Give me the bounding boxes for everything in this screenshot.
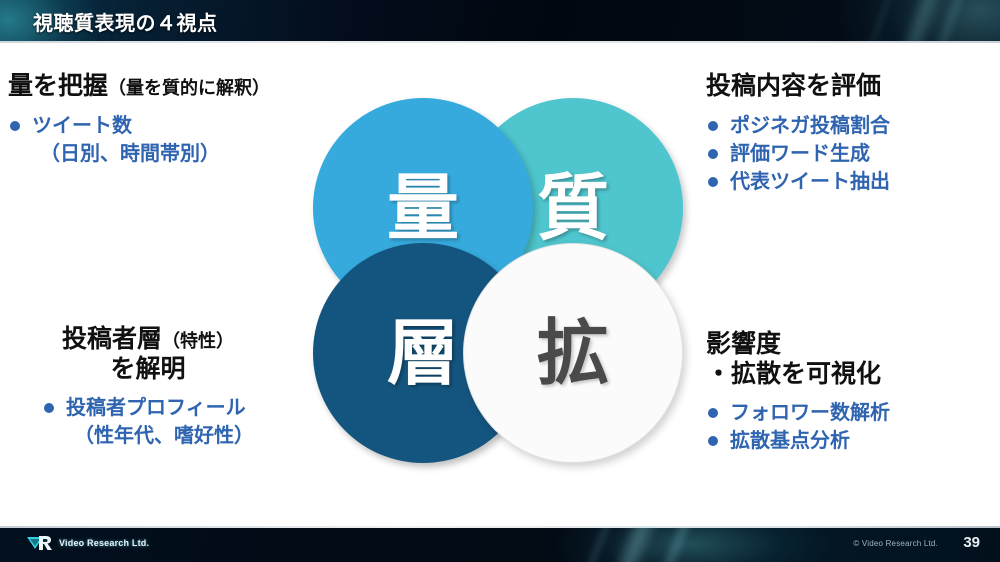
- list-item-sublabel: （性年代、嗜好性）: [66, 422, 254, 450]
- list-item-label: ポジネガ投稿割合: [730, 115, 890, 137]
- venn-diagram: 質 量 層 拡: [305, 95, 695, 465]
- bullet-dot-icon: [708, 408, 718, 418]
- bullet-dot-icon: [44, 403, 54, 413]
- quality-bullet-list: ポジネガ投稿割合 評価ワード生成 代表ツイート抽出: [706, 112, 890, 197]
- quantity-heading-main: 量を把握: [8, 72, 108, 100]
- page-title: 視聴質表現の４視点: [33, 7, 218, 36]
- header-divider: [0, 41, 1000, 43]
- quantity-circle-label: 量: [387, 172, 459, 244]
- list-item: 投稿者プロフィール （性年代、嗜好性）: [42, 394, 254, 451]
- list-item-label: フォロワー数解析: [730, 402, 890, 424]
- list-item-label: 投稿者プロフィール: [66, 397, 246, 419]
- segment-heading: 投稿者層（特性） を解明: [42, 325, 254, 384]
- slide: 視聴質表現の４視点 質 量 層 拡 量を把握（量を質的に解釈） ツイート数 （日…: [0, 0, 1000, 562]
- brand-name: Video Research Ltd.: [59, 538, 149, 548]
- footer-light-streak-icon: [579, 526, 616, 562]
- page-number: 39: [963, 534, 980, 551]
- video-research-logo-icon: [26, 534, 54, 552]
- segment-text-block: 投稿者層（特性） を解明 投稿者プロフィール （性年代、嗜好性）: [42, 325, 254, 451]
- footer-divider: [0, 526, 1000, 528]
- quantity-bullet-list: ツイート数 （日別、時間帯別）: [8, 112, 270, 169]
- bullet-dot-icon: [708, 149, 718, 159]
- footer-light-streak-icon: [655, 526, 696, 562]
- quantity-heading-sub: （量を質的に解釈）: [108, 78, 270, 98]
- segment-heading-main: 投稿者層: [62, 325, 162, 353]
- footer-light-streak-icon: [608, 526, 662, 562]
- header-light-streak-icon: [855, 0, 899, 42]
- diffusion-text-block: 影響度 ・拡散を可視化 フォロワー数解析 拡散基点分析: [706, 330, 890, 456]
- list-item-sublabel: （日別、時間帯別）: [32, 140, 270, 168]
- quality-text-block: 投稿内容を評価 ポジネガ投稿割合 評価ワード生成 代表ツイート抽出: [706, 72, 890, 197]
- bullet-dot-icon: [708, 177, 718, 187]
- quantity-heading: 量を把握（量を質的に解釈）: [8, 72, 270, 102]
- quality-heading-main: 投稿内容を評価: [706, 72, 881, 100]
- diffusion-circle-label: 拡: [537, 317, 609, 389]
- slide-footer: Video Research Ltd. © Video Research Ltd…: [0, 526, 1000, 562]
- list-item-label: ツイート数: [32, 115, 132, 137]
- segment-heading-sub: （特性）: [162, 331, 234, 351]
- segment-bullet-list: 投稿者プロフィール （性年代、嗜好性）: [42, 394, 254, 451]
- list-item: フォロワー数解析: [706, 399, 890, 427]
- quantity-text-block: 量を把握（量を質的に解釈） ツイート数 （日別、時間帯別）: [8, 72, 270, 168]
- bullet-dot-icon: [708, 121, 718, 131]
- diffusion-heading: 影響度 ・拡散を可視化: [706, 330, 890, 389]
- list-item: ツイート数 （日別、時間帯別）: [8, 112, 270, 169]
- quality-heading: 投稿内容を評価: [706, 72, 890, 102]
- segment-heading-line2: を解明: [42, 355, 254, 385]
- brand-logo: Video Research Ltd.: [26, 534, 149, 552]
- copyright-text: © Video Research Ltd.: [853, 539, 938, 548]
- list-item-label: 拡散基点分析: [730, 430, 850, 452]
- segment-circle-label: 層: [387, 317, 459, 389]
- bullet-dot-icon: [708, 436, 718, 446]
- bullet-dot-icon: [10, 121, 20, 131]
- quality-circle-label: 質: [537, 172, 609, 244]
- diffusion-bullet-list: フォロワー数解析 拡散基点分析: [706, 399, 890, 456]
- list-item: ポジネガ投稿割合: [706, 112, 890, 140]
- list-item: 拡散基点分析: [706, 427, 890, 455]
- list-item-label: 評価ワード生成: [730, 143, 870, 165]
- diffusion-heading-line2: ・拡散を可視化: [706, 360, 890, 390]
- slide-header: 視聴質表現の４視点: [0, 0, 1000, 42]
- list-item: 評価ワード生成: [706, 140, 890, 168]
- segment-heading-line1: 投稿者層（特性）: [42, 325, 254, 355]
- list-item: 代表ツイート抽出: [706, 168, 890, 196]
- diffusion-heading-line1: 影響度: [706, 330, 890, 360]
- diffusion-circle: 拡: [463, 243, 683, 463]
- list-item-label: 代表ツイート抽出: [730, 171, 890, 193]
